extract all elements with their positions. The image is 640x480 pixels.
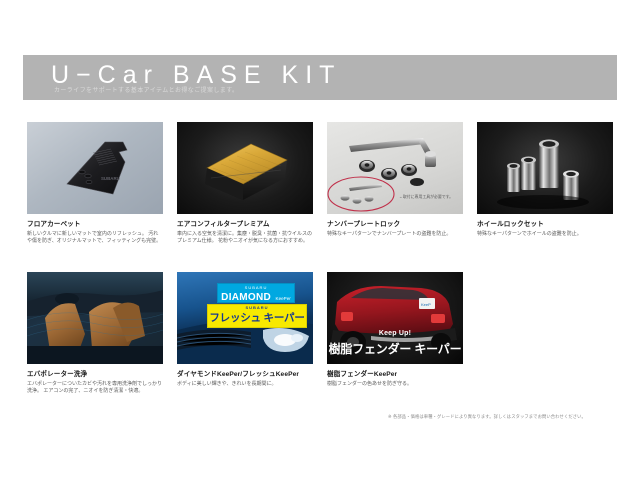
product-caption: ダイヤモンドKeePer/フレッシュKeePer ボディに美しい輝きや、きれいを… bbox=[177, 370, 313, 388]
product-description: 新しいクルマに新しいマットで室内のリフレッシュ。 汚れや傷を防ぎ、オリジナルマッ… bbox=[27, 231, 163, 244]
product-thumbnail[interactable]: KeeP Keep Up! 樹脂フェンダー キーパー bbox=[327, 272, 463, 364]
product-caption: ホイールロックセット 特殊なキーパターンでホイールの盗難を防止。 bbox=[477, 220, 613, 238]
product-title: エアコンフィルタープレミアム bbox=[177, 220, 313, 229]
product-title: ダイヤモンドKeePer/フレッシュKeePer bbox=[177, 370, 313, 379]
product-caption: フロアカーペット 新しいクルマに新しいマットで室内のリフレッシュ。 汚れや傷を防… bbox=[27, 220, 163, 244]
product-thumbnail[interactable]: SUBARU DIAMOND KeePer SUBARU フレッシュ キーパー bbox=[177, 272, 313, 364]
diamond-keeper-badge: SUBARU DIAMOND KeePer bbox=[217, 283, 295, 303]
badge-diamond-label: DIAMOND bbox=[221, 292, 271, 303]
badge-diamond-sub: KeePer bbox=[276, 296, 291, 301]
product-card[interactable]: ←取付に専用工具が必要です。 ナンバープレートロック 特殊なキーパターンでナンバ… bbox=[323, 116, 467, 251]
fender-keeper-artwork: KeeP Keep Up! 樹脂フェンダー キーパー bbox=[327, 272, 463, 364]
product-title: ホイールロックセット bbox=[477, 220, 613, 229]
svg-text:KeeP: KeeP bbox=[421, 302, 431, 307]
badge-fresh-label: フレッシュ キーパー bbox=[208, 311, 306, 325]
product-card[interactable]: SUBARU フロアカーペット 新しいクルマに新しいマットで室内のリフレッシュ。… bbox=[23, 116, 167, 251]
page-title: U−Car BASE KIT bbox=[51, 61, 341, 89]
product-description: 車内に入る空気を清潔に。集塵・脱臭・抗菌・抗ウイルスのプレミアム仕様。 花粉やニ… bbox=[177, 231, 313, 244]
product-card[interactable]: エバポレーター洗浄 エバポレーターについたカビや汚れを専用洗浄剤でしっかり洗浄。… bbox=[23, 266, 167, 401]
plate-lock-callout: ←取付に専用工具が必要です。 bbox=[399, 194, 453, 199]
product-title: フロアカーペット bbox=[27, 220, 163, 229]
product-card[interactable]: KeeP Keep Up! 樹脂フェンダー キーパー 樹脂フェンダーKeePer… bbox=[323, 266, 467, 401]
page-subtitle: カーライフをサポートする基本アイテムとお得なご提案します。 bbox=[54, 87, 238, 95]
product-thumbnail[interactable] bbox=[477, 122, 613, 214]
floor-mat-artwork: SUBARU bbox=[27, 122, 163, 214]
keepup-label: Keep Up! bbox=[327, 330, 463, 337]
product-card[interactable]: エアコンフィルタープレミアム 車内に入る空気を清潔に。集塵・脱臭・抗菌・抗ウイル… bbox=[173, 116, 317, 251]
product-description: エバポレーターについたカビや汚れを専用洗浄剤でしっかり洗浄。 エアコンの完了、ニ… bbox=[27, 381, 163, 394]
product-caption: エアコンフィルタープレミアム 車内に入る空気を清潔に。集塵・脱臭・抗菌・抗ウイル… bbox=[177, 220, 313, 244]
product-card[interactable]: SUBARU DIAMOND KeePer SUBARU フレッシュ キーパー … bbox=[173, 266, 317, 401]
product-thumbnail[interactable]: ←取付に専用工具が必要です。 bbox=[327, 122, 463, 214]
fender-keeper-label: 樹脂フェンダー キーパー bbox=[327, 340, 463, 357]
product-caption: 樹脂フェンダーKeePer 樹脂フェンダーの色あせを防ぎ守る。 bbox=[327, 370, 463, 388]
keeper-artwork: SUBARU DIAMOND KeePer SUBARU フレッシュ キーパー bbox=[177, 272, 313, 364]
product-title: 樹脂フェンダーKeePer bbox=[327, 370, 463, 379]
product-description: 特殊なキーパターンでホイールの盗難を防止。 bbox=[477, 231, 613, 238]
product-description: 樹脂フェンダーの色あせを防ぎ守る。 bbox=[327, 381, 463, 388]
fresh-keeper-badge: SUBARU フレッシュ キーパー bbox=[207, 304, 307, 328]
product-description: ボディに美しい輝きや、きれいを長期間に。 bbox=[177, 381, 313, 388]
product-thumbnail[interactable] bbox=[27, 272, 163, 364]
svg-text:SUBARU: SUBARU bbox=[101, 176, 120, 181]
product-title: ナンバープレートロック bbox=[327, 220, 463, 229]
product-description: 特殊なキーパターンでナンバープレートの盗難を防止。 bbox=[327, 231, 463, 238]
product-caption: エバポレーター洗浄 エバポレーターについたカビや汚れを専用洗浄剤でしっかり洗浄。… bbox=[27, 370, 163, 394]
product-title: エバポレーター洗浄 bbox=[27, 370, 163, 379]
footnote: ※ 各部品・価格は車種・グレードにより異なります。詳しくはスタッフまでお問い合わ… bbox=[388, 414, 623, 420]
product-caption: ナンバープレートロック 特殊なキーパターンでナンバープレートの盗難を防止。 bbox=[327, 220, 463, 238]
interior-artwork bbox=[27, 272, 163, 364]
page-root: U−Car BASE KIT カーライフをサポートする基本アイテムとお得なご提案… bbox=[0, 0, 640, 480]
product-card[interactable]: ホイールロックセット 特殊なキーパターンでホイールの盗難を防止。 bbox=[473, 116, 617, 251]
wheel-lock-artwork bbox=[477, 122, 613, 214]
plate-lock-artwork: ←取付に専用工具が必要です。 bbox=[327, 122, 463, 214]
catalog-sheet: U−Car BASE KIT カーライフをサポートする基本アイテムとお得なご提案… bbox=[8, 8, 632, 472]
product-thumbnail[interactable] bbox=[177, 122, 313, 214]
aircon-filter-artwork bbox=[177, 122, 313, 214]
header-band: U−Car BASE KIT カーライフをサポートする基本アイテムとお得なご提案… bbox=[23, 55, 617, 100]
product-thumbnail[interactable]: SUBARU bbox=[27, 122, 163, 214]
